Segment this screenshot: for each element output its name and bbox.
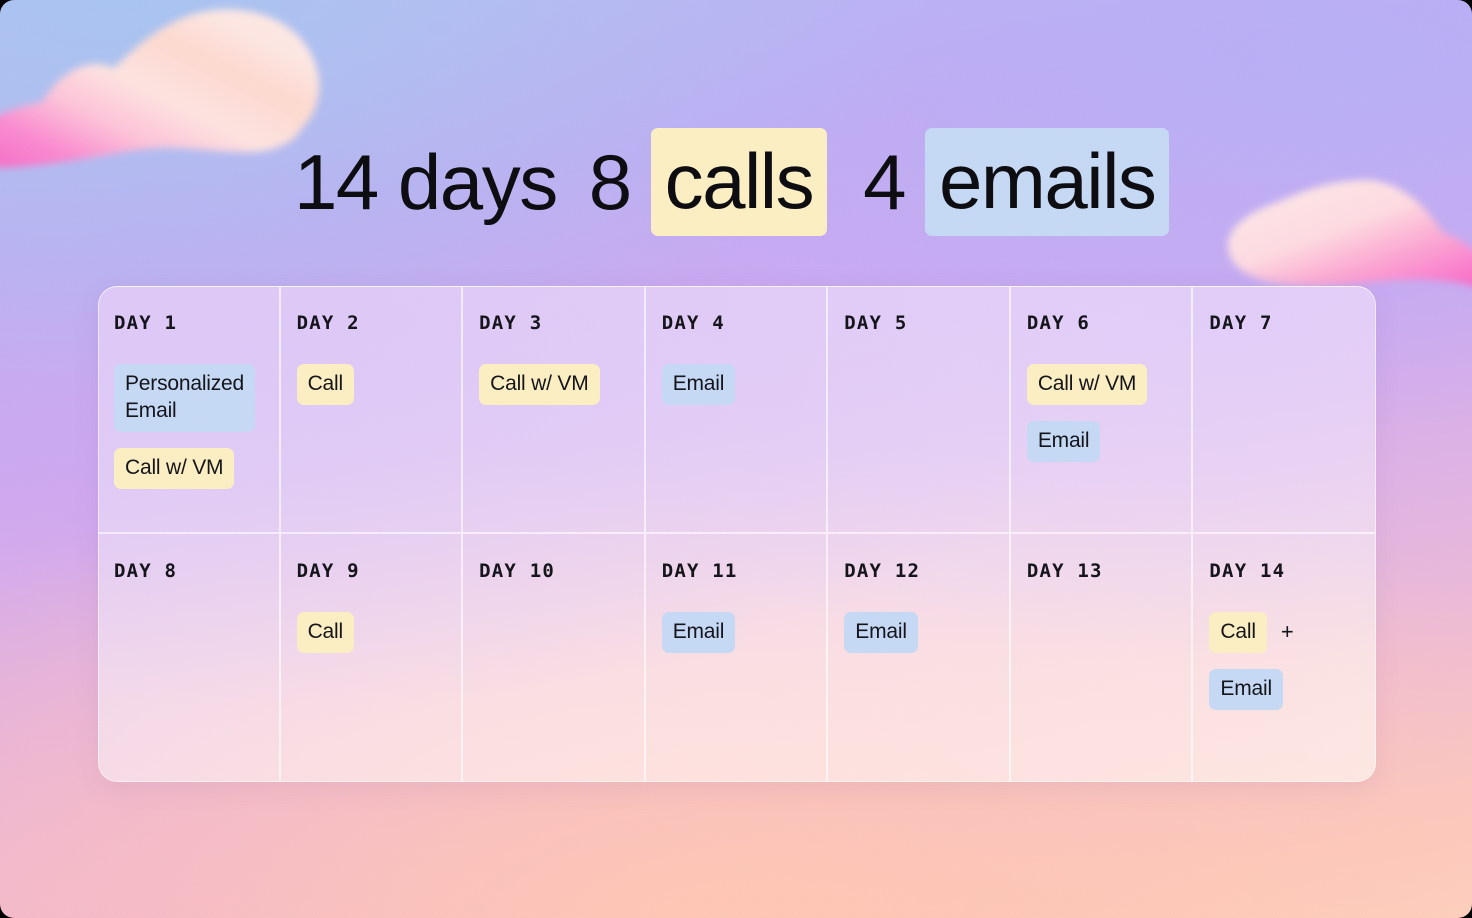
day-label: DAY 5 bbox=[844, 312, 993, 334]
email-activity-pill[interactable]: Email bbox=[844, 612, 918, 653]
day-label: DAY 11 bbox=[662, 560, 811, 582]
calendar-day-cell[interactable]: DAY 13 bbox=[1011, 534, 1194, 782]
day-label: DAY 13 bbox=[1027, 560, 1176, 582]
email-activity-pill[interactable]: Email bbox=[662, 612, 736, 653]
call-activity-pill[interactable]: Call w/ VM bbox=[1027, 364, 1147, 405]
activity-row: Email bbox=[1027, 421, 1101, 462]
day-activity-list: Email bbox=[844, 612, 993, 653]
email-activity-pill[interactable]: Email bbox=[1027, 421, 1101, 462]
calendar-day-cell[interactable]: DAY 10 bbox=[463, 534, 646, 782]
activity-row: Email bbox=[662, 612, 736, 653]
page-title: 14 days 8 calls 4 emails bbox=[292, 130, 1169, 234]
call-activity-pill[interactable]: Call bbox=[297, 612, 354, 653]
day-label: DAY 2 bbox=[297, 312, 446, 334]
activity-row: Call+ bbox=[1209, 612, 1293, 653]
email-activity-pill[interactable]: Email bbox=[1209, 669, 1283, 710]
calendar-day-cell[interactable]: DAY 7 bbox=[1193, 286, 1376, 534]
day-activity-list: Personalized EmailCall w/ VM bbox=[114, 364, 263, 489]
headline-emails-label: emails bbox=[925, 128, 1169, 236]
calendar-day-cell[interactable]: DAY 4Email bbox=[646, 286, 829, 534]
calendar-day-cell[interactable]: DAY 1Personalized EmailCall w/ VM bbox=[98, 286, 281, 534]
day-activity-list: Call bbox=[297, 612, 446, 653]
calendar-day-cell[interactable]: DAY 12Email bbox=[828, 534, 1011, 782]
activity-row: Call w/ VM bbox=[1027, 364, 1147, 405]
day-activity-list: Call+Email bbox=[1209, 612, 1360, 710]
day-label: DAY 10 bbox=[479, 560, 628, 582]
call-activity-pill[interactable]: Call bbox=[297, 364, 354, 405]
headline-calls-count: 8 bbox=[587, 143, 633, 221]
day-label: DAY 1 bbox=[114, 312, 263, 334]
call-activity-pill[interactable]: Call w/ VM bbox=[479, 364, 599, 405]
plus-separator: + bbox=[1281, 621, 1294, 643]
calendar-day-cell[interactable]: DAY 6Call w/ VMEmail bbox=[1011, 286, 1194, 534]
infographic-canvas: 14 days 8 calls 4 emails DAY 1Personaliz… bbox=[0, 0, 1472, 918]
activity-row: Email bbox=[662, 364, 736, 405]
activity-row: Call bbox=[297, 364, 354, 405]
activity-row: Personalized Email bbox=[114, 364, 255, 432]
activity-row: Call w/ VM bbox=[114, 448, 234, 489]
email-activity-pill[interactable]: Email bbox=[662, 364, 736, 405]
day-label: DAY 14 bbox=[1209, 560, 1360, 582]
day-label: DAY 8 bbox=[114, 560, 263, 582]
headline-calls-label: calls bbox=[651, 128, 828, 236]
calendar-day-cell[interactable]: DAY 11Email bbox=[646, 534, 829, 782]
day-label: DAY 12 bbox=[844, 560, 993, 582]
call-activity-pill[interactable]: Call bbox=[1209, 612, 1266, 653]
day-activity-list: Call w/ VMEmail bbox=[1027, 364, 1176, 462]
day-label: DAY 6 bbox=[1027, 312, 1176, 334]
calendar-day-cell[interactable]: DAY 14Call+Email bbox=[1193, 534, 1376, 782]
day-label: DAY 9 bbox=[297, 560, 446, 582]
activity-row: Email bbox=[844, 612, 918, 653]
calendar-day-cell[interactable]: DAY 3Call w/ VM bbox=[463, 286, 646, 534]
day-activity-list: Email bbox=[662, 364, 811, 405]
day-activity-list: Call w/ VM bbox=[479, 364, 628, 405]
day-label: DAY 4 bbox=[662, 312, 811, 334]
email-activity-pill[interactable]: Personalized Email bbox=[114, 364, 255, 432]
calendar-day-cell[interactable]: DAY 9Call bbox=[281, 534, 464, 782]
headline-emails-count: 4 bbox=[861, 143, 907, 221]
calendar-day-cell[interactable]: DAY 5 bbox=[828, 286, 1011, 534]
call-activity-pill[interactable]: Call w/ VM bbox=[114, 448, 234, 489]
day-label: DAY 3 bbox=[479, 312, 628, 334]
activity-row: Call bbox=[297, 612, 354, 653]
calendar-day-cell[interactable]: DAY 2Call bbox=[281, 286, 464, 534]
calendar-day-cell[interactable]: DAY 8 bbox=[98, 534, 281, 782]
activity-row: Call w/ VM bbox=[479, 364, 599, 405]
day-label: DAY 7 bbox=[1209, 312, 1360, 334]
day-activity-list: Call bbox=[297, 364, 446, 405]
cadence-calendar: DAY 1Personalized EmailCall w/ VMDAY 2Ca… bbox=[98, 286, 1376, 782]
headline-days: 14 days bbox=[292, 143, 559, 221]
day-activity-list: Email bbox=[662, 612, 811, 653]
activity-row: Email bbox=[1209, 669, 1283, 710]
